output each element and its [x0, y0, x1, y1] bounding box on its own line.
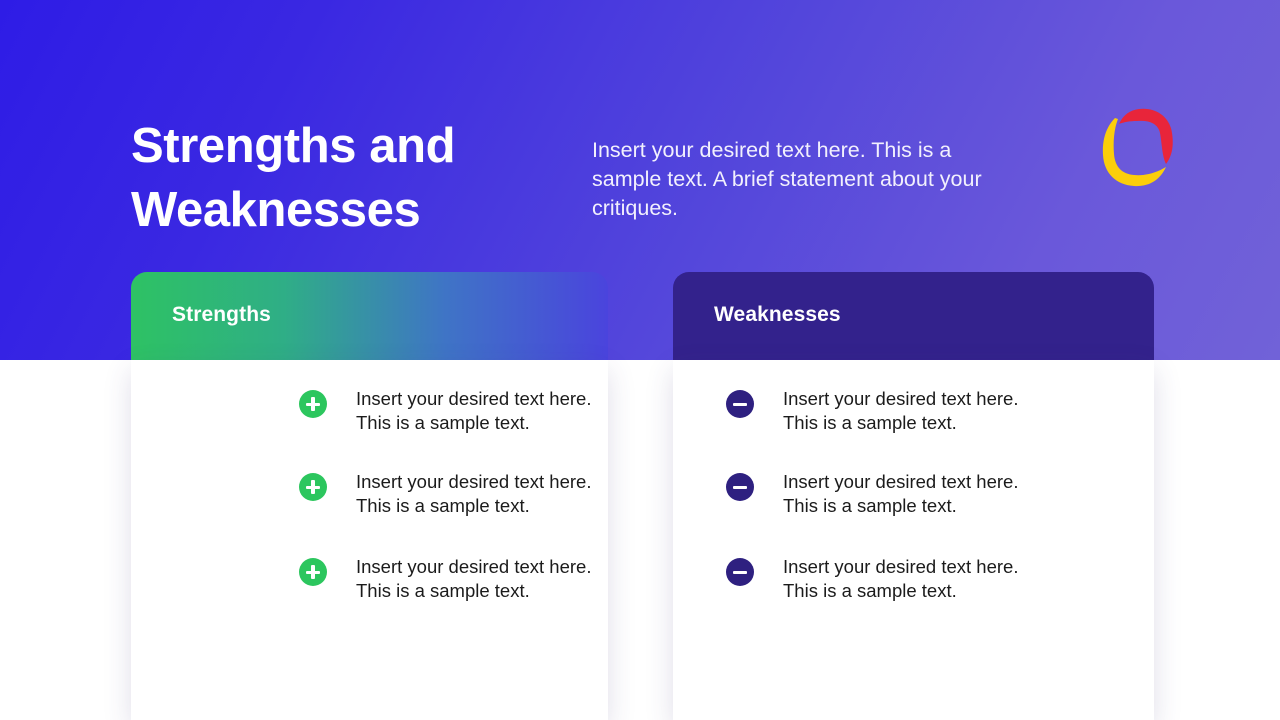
- list-item-text: Insert your desired text here. This is a…: [356, 470, 604, 517]
- intro-paragraph: Insert your desired text here. This is a…: [592, 136, 984, 223]
- plus-icon: [299, 558, 327, 586]
- card-header-weaknesses: Weaknesses: [673, 272, 1154, 360]
- card-strengths: Strengths Insert your desired text here.…: [131, 272, 608, 720]
- card-weaknesses: Weaknesses Insert your desired text here…: [673, 272, 1154, 720]
- list-item[interactable]: Insert your desired text here. This is a…: [299, 555, 604, 602]
- list-item[interactable]: Insert your desired text here. This is a…: [726, 470, 1035, 517]
- list-item[interactable]: Insert your desired text here. This is a…: [726, 387, 1035, 434]
- list-item-text: Insert your desired text here. This is a…: [356, 387, 604, 434]
- list-item-text: Insert your desired text here. This is a…: [783, 387, 1035, 434]
- page-title: Strengths and Weaknesses: [131, 114, 551, 242]
- card-body-strengths: Insert your desired text here. This is a…: [131, 360, 608, 720]
- list-item-text: Insert your desired text here. This is a…: [783, 555, 1035, 602]
- slide-canvas: Strengths and Weaknesses Insert your des…: [0, 0, 1280, 720]
- list-item-text: Insert your desired text here. This is a…: [356, 555, 604, 602]
- list-item[interactable]: Insert your desired text here. This is a…: [299, 470, 604, 517]
- brand-swoosh-logo: [1092, 100, 1178, 194]
- card-title-weaknesses: Weaknesses: [714, 303, 841, 327]
- card-header-strengths: Strengths: [131, 272, 608, 360]
- plus-icon: [299, 473, 327, 501]
- minus-icon: [726, 390, 754, 418]
- list-item[interactable]: Insert your desired text here. This is a…: [299, 387, 604, 434]
- card-title-strengths: Strengths: [172, 303, 271, 327]
- minus-icon: [726, 473, 754, 501]
- list-item[interactable]: Insert your desired text here. This is a…: [726, 555, 1035, 602]
- list-item-text: Insert your desired text here. This is a…: [783, 470, 1035, 517]
- plus-icon: [299, 390, 327, 418]
- minus-icon: [726, 558, 754, 586]
- card-body-weaknesses: Insert your desired text here. This is a…: [673, 360, 1154, 720]
